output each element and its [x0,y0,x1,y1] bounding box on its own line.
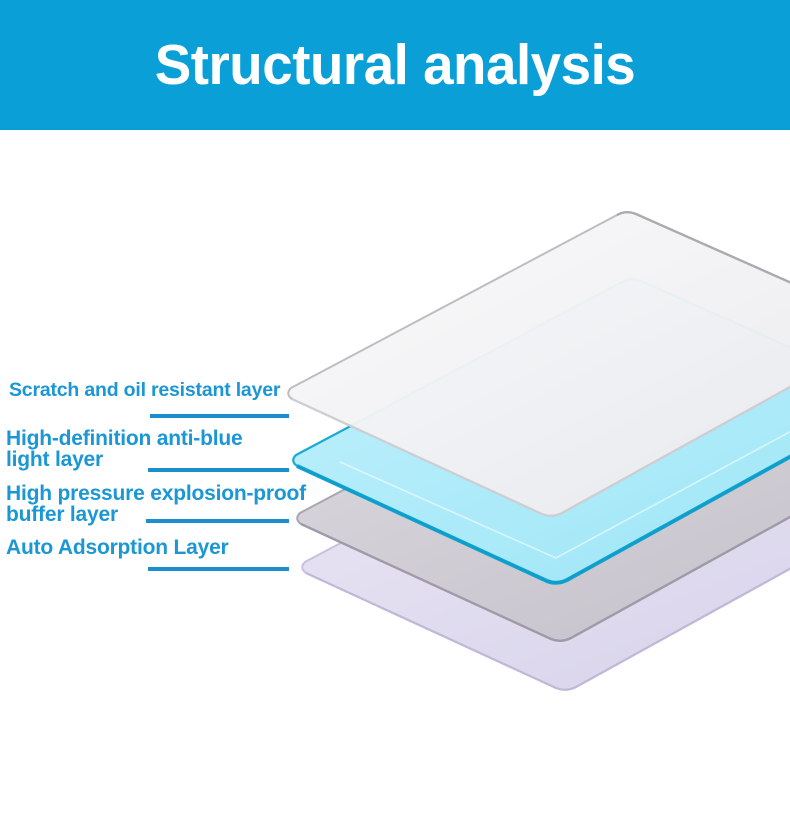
callout-labels: Scratch and oil resistant layer High-def… [0,130,330,833]
page-root: Structural analysis [0,0,790,833]
layer-label-high-definition-anti-blue-light: High-definition anti-blue light layer [6,428,242,471]
layer-label-scratch-and-oil-resistant: Scratch and oil resistant layer [9,381,280,401]
leader-line-layer-3 [146,519,289,523]
header-banner: Structural analysis [0,0,790,130]
leader-line-layer-2 [148,468,289,472]
leader-line-layer-4 [148,567,289,571]
page-title: Structural analysis [16,0,774,130]
layer-label-auto-adsorption: Auto Adsorption Layer [6,537,229,558]
leader-line-layer-1 [150,414,289,418]
